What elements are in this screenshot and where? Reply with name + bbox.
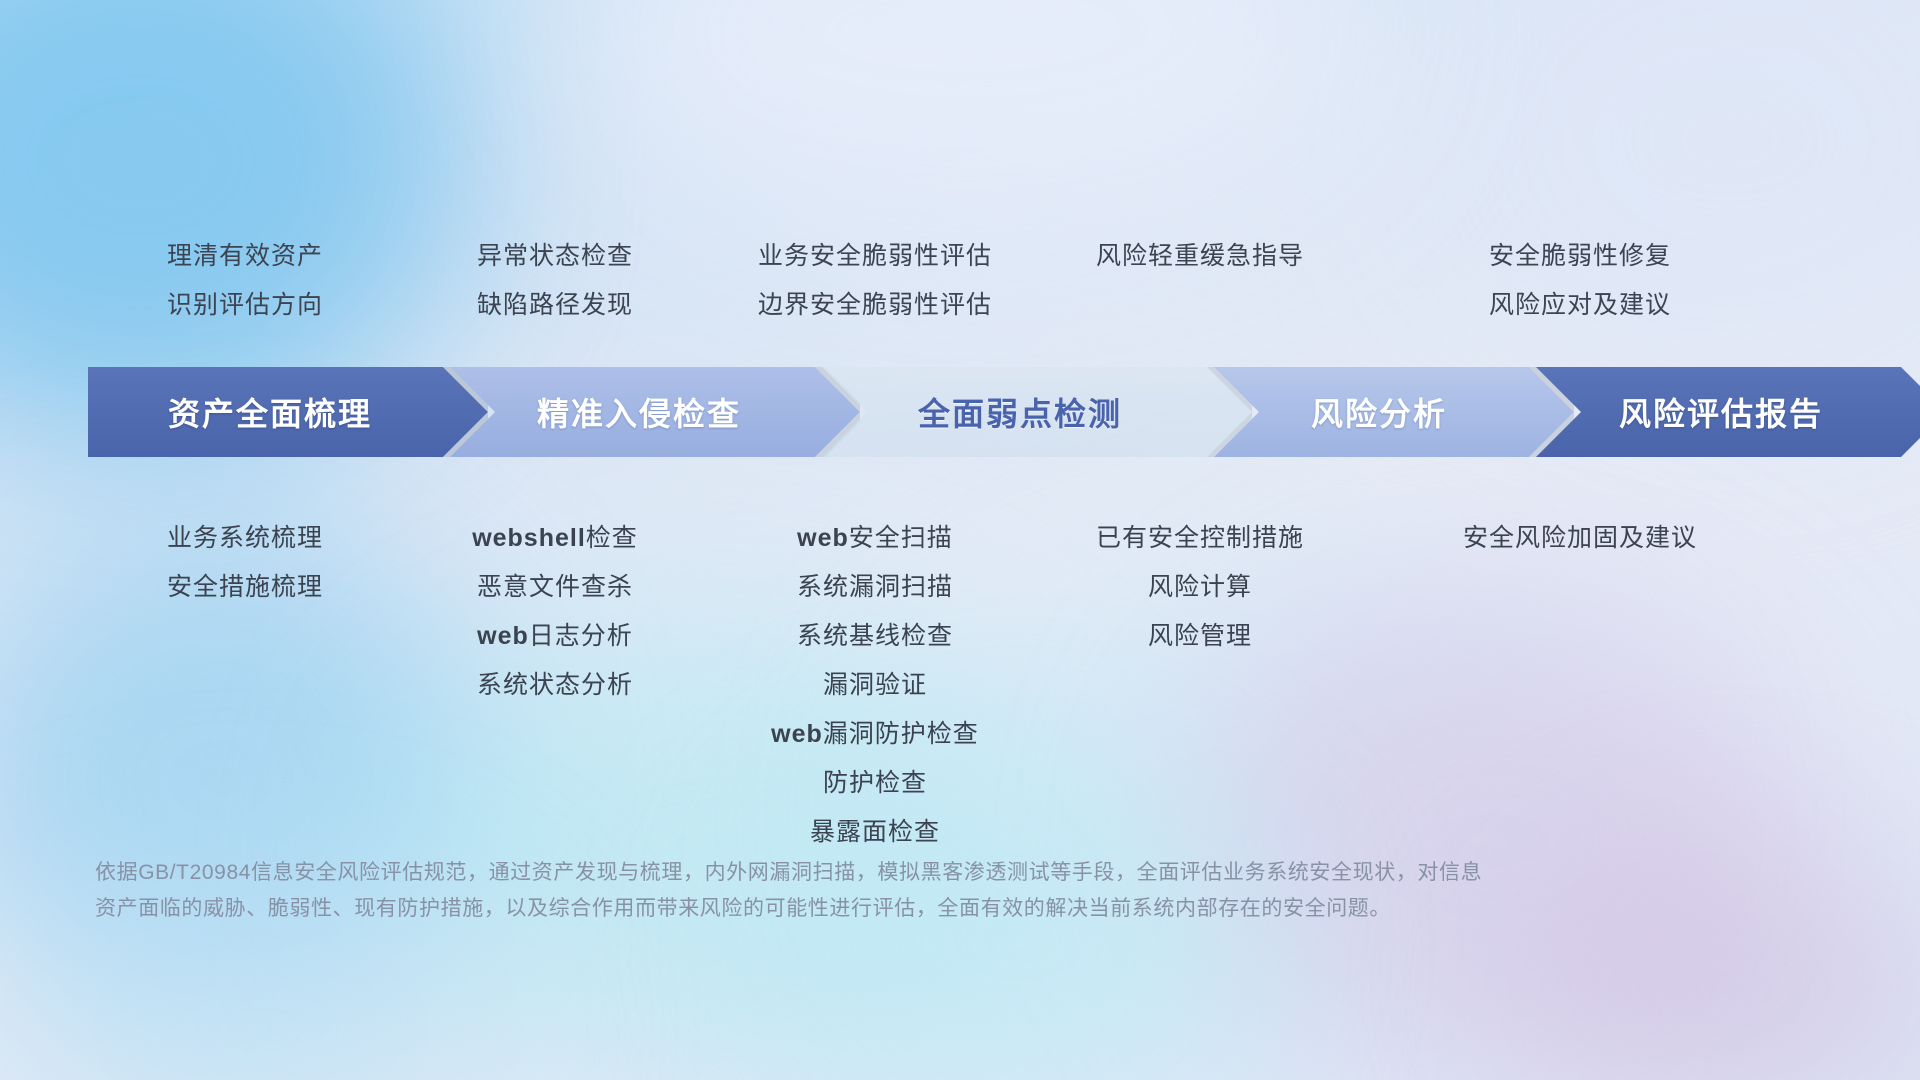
bottom-item-bold: web	[797, 524, 849, 552]
bottom-item: 系统基线检查	[715, 612, 1035, 661]
top-list-0: 理清有效资产 识别评估方向	[95, 232, 395, 330]
chevron-label: 全面弱点检测	[822, 389, 1252, 435]
bottom-item-rest: 系统漏洞扫描	[797, 573, 953, 601]
bottom-item: 防护检查	[715, 759, 1035, 808]
chevron-stage-intrusion-check[interactable]: 精准入侵检查	[450, 367, 860, 457]
bottom-item-rest: 安全扫描	[849, 524, 953, 552]
footer-line-1: 依据GB/T20984信息安全风险评估规范，通过资产发现与梳理，内外网漏洞扫描，…	[95, 855, 1735, 891]
bottom-item-rest: 暴露面检查	[810, 818, 940, 846]
bottom-item: 风险计算	[1035, 563, 1365, 612]
bottom-item: 恶意文件查杀	[395, 563, 715, 612]
top-item: 异常状态检查	[395, 232, 715, 281]
bottom-item: 系统漏洞扫描	[715, 563, 1035, 612]
top-item: 风险应对及建议	[1365, 281, 1795, 330]
bottom-item: 系统状态分析	[395, 661, 715, 710]
chevron-label: 风险分析	[1214, 389, 1574, 435]
chevron-label: 资产全面梳理	[88, 389, 488, 435]
bottom-item: webshell检查	[395, 514, 715, 563]
bottom-list-1: webshell检查 恶意文件查杀 web日志分析 系统状态分析	[395, 514, 715, 710]
bottom-item: web日志分析	[395, 612, 715, 661]
bottom-list-0: 业务系统梳理 安全措施梳理	[95, 514, 395, 612]
diagram-stage: 理清有效资产 识别评估方向 业务系统梳理 安全措施梳理 异常状态检查 缺陷路径发…	[0, 0, 1920, 1080]
bottom-item: 暴露面检查	[715, 808, 1035, 857]
bottom-item: web安全扫描	[715, 514, 1035, 563]
top-list-4: 安全脆弱性修复 风险应对及建议	[1365, 232, 1795, 330]
bottom-item-rest: 漏洞防护检查	[823, 720, 979, 748]
bottom-item: 漏洞验证	[715, 661, 1035, 710]
top-item: 理清有效资产	[95, 232, 395, 281]
chevron-stage-risk-report[interactable]: 风险评估报告	[1536, 367, 1920, 457]
top-item: 安全脆弱性修复	[1365, 232, 1795, 281]
chevron-label: 精准入侵检查	[450, 389, 860, 435]
top-item: 边界安全脆弱性评估	[715, 281, 1035, 330]
bottom-list-2: web安全扫描 系统漏洞扫描 系统基线检查 漏洞验证 web漏洞防护检查 防护检…	[715, 514, 1035, 857]
top-item: 缺陷路径发现	[395, 281, 715, 330]
chevron-stage-weakness-detection[interactable]: 全面弱点检测	[822, 367, 1252, 457]
bottom-list-3: 已有安全控制措施 风险计算 风险管理	[1035, 514, 1365, 661]
bottom-item-rest: 系统状态分析	[477, 671, 633, 699]
bottom-item: web漏洞防护检查	[715, 710, 1035, 759]
chevron-stage-risk-analysis[interactable]: 风险分析	[1214, 367, 1574, 457]
top-list-1: 异常状态检查 缺陷路径发现	[395, 232, 715, 330]
bottom-item-rest: 日志分析	[529, 622, 633, 650]
chevron-label: 风险评估报告	[1536, 389, 1920, 435]
footer-description: 依据GB/T20984信息安全风险评估规范，通过资产发现与梳理，内外网漏洞扫描，…	[95, 855, 1735, 927]
bottom-item-rest: 系统基线检查	[797, 622, 953, 650]
top-item: 业务安全脆弱性评估	[715, 232, 1035, 281]
bottom-item-rest: 检查	[586, 524, 638, 552]
bottom-item-rest: 漏洞验证	[823, 671, 927, 699]
bottom-item: 风险管理	[1035, 612, 1365, 661]
bottom-item-bold: web	[771, 720, 823, 748]
bottom-item-bold: web	[477, 622, 529, 650]
top-list-2: 业务安全脆弱性评估 边界安全脆弱性评估	[715, 232, 1035, 330]
process-chevron-band: 资产全面梳理 精准入侵检查	[88, 367, 1848, 457]
bottom-item: 安全措施梳理	[95, 563, 395, 612]
bottom-item: 业务系统梳理	[95, 514, 395, 563]
top-item: 识别评估方向	[95, 281, 395, 330]
bottom-item: 安全风险加固及建议	[1365, 514, 1795, 563]
bottom-item-rest: 恶意文件查杀	[477, 573, 633, 601]
top-item: 风险轻重缓急指导	[1035, 232, 1365, 281]
top-list-3: 风险轻重缓急指导	[1035, 232, 1365, 281]
chevron-stage-asset-review[interactable]: 资产全面梳理	[88, 367, 488, 457]
bottom-item-bold: webshell	[472, 524, 586, 552]
footer-line-2: 资产面临的威胁、脆弱性、现有防护措施，以及综合作用而带来风险的可能性进行评估，全…	[95, 891, 1735, 927]
bottom-list-4: 安全风险加固及建议	[1365, 514, 1795, 563]
bottom-item-rest: 防护检查	[823, 769, 927, 797]
bottom-item: 已有安全控制措施	[1035, 514, 1365, 563]
